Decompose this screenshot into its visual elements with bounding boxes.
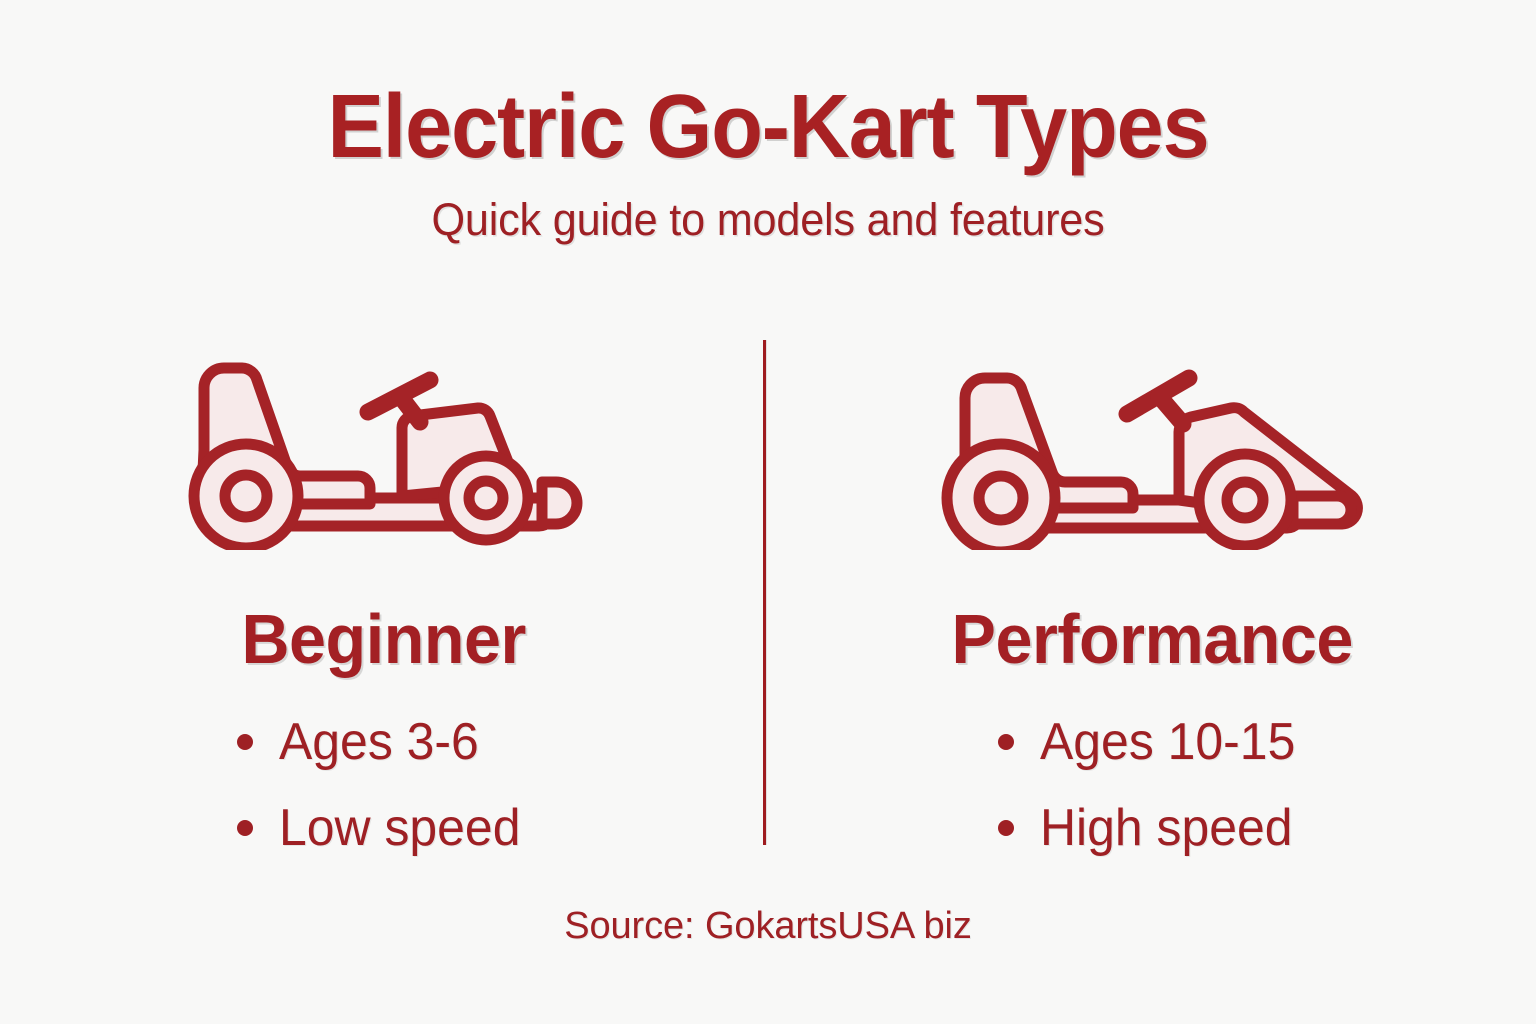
bullet-dot-icon — [998, 734, 1014, 750]
bullet-dot-icon — [237, 734, 253, 750]
column-beginner: Beginner Ages 3-6 Low speed — [0, 340, 768, 888]
go-kart-performance-icon — [927, 340, 1377, 560]
source-caption: Source: GokartsUSA biz — [0, 905, 1536, 948]
bullet-dot-icon — [237, 820, 253, 836]
header: Electric Go-Kart Types Quick guide to mo… — [0, 0, 1536, 246]
page-subtitle: Quick guide to models and features — [31, 172, 1506, 246]
feature-list-performance: Ages 10-15 High speed — [998, 674, 1306, 888]
column-heading-beginner: Beginner — [242, 560, 526, 674]
columns-container: Beginner Ages 3-6 Low speed — [0, 340, 1536, 888]
list-item: High speed — [998, 802, 1306, 854]
go-kart-beginner-icon — [174, 340, 594, 560]
list-item: Ages 10-15 — [998, 716, 1306, 768]
list-item: Low speed — [237, 802, 531, 854]
column-heading-performance: Performance — [951, 560, 1352, 674]
page-title: Electric Go-Kart Types — [46, 0, 1490, 172]
feature-list-beginner: Ages 3-6 Low speed — [237, 674, 531, 888]
bullet-dot-icon — [998, 820, 1014, 836]
column-performance: Performance Ages 10-15 High speed — [768, 340, 1536, 888]
list-item: Ages 3-6 — [237, 716, 531, 768]
infographic-canvas: Electric Go-Kart Types Quick guide to mo… — [0, 0, 1536, 1024]
